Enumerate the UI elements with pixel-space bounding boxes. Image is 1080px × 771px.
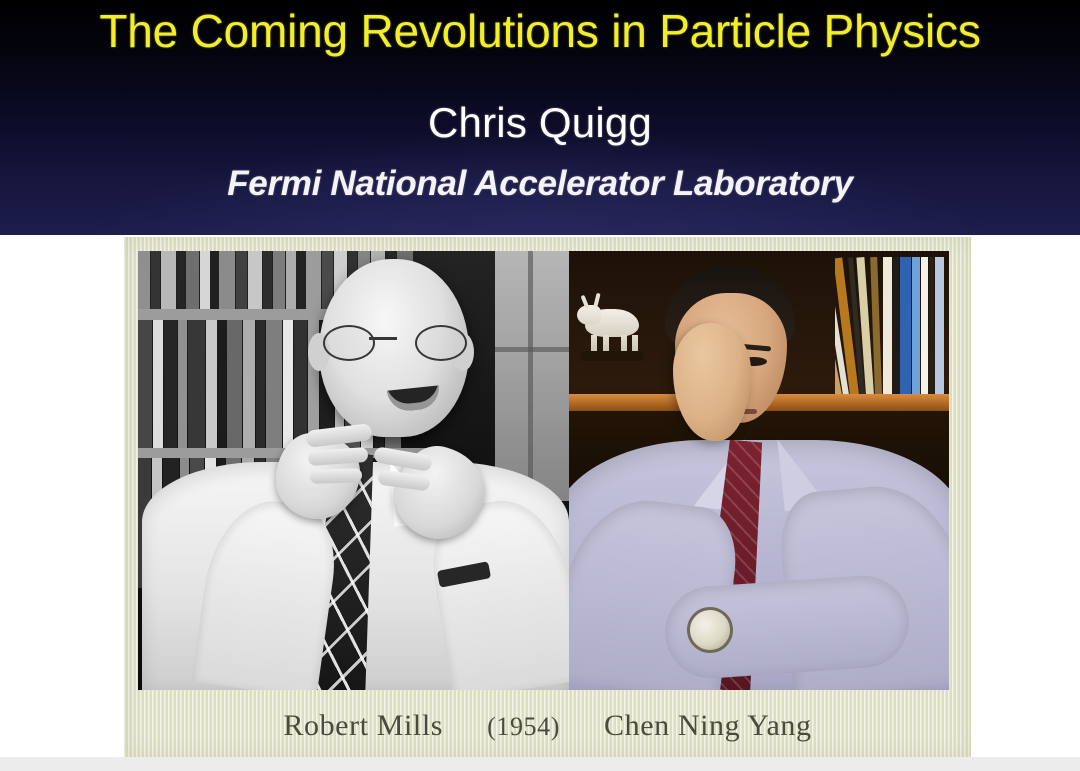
- photo-pair: [138, 251, 949, 690]
- mills-glasses-bridge: [369, 337, 397, 340]
- caption-right-name: Chen Ning Yang: [604, 709, 812, 743]
- robert-mills-photo: [138, 251, 569, 690]
- yang-bookshelf-books: [835, 257, 945, 395]
- bottom-strip: [0, 757, 1080, 771]
- author-name: Chris Quigg: [0, 96, 1080, 150]
- mills-glasses-lens-right: [415, 325, 467, 361]
- mills-window-bar-v: [528, 251, 533, 501]
- chen-ning-yang-photo: [569, 251, 949, 690]
- mills-glasses-lens-left: [323, 325, 375, 361]
- presentation-slide: The Coming Revolutions in Particle Physi…: [0, 0, 1080, 771]
- author-affiliation: Fermi National Accelerator Laboratory: [0, 161, 1080, 207]
- caption-year: (1954): [487, 712, 560, 742]
- page-title: The Coming Revolutions in Particle Physi…: [0, 2, 1080, 60]
- mills-glasses: [319, 325, 471, 359]
- yang-ox-figurine: [577, 293, 649, 355]
- caption-left-name: Robert Mills: [283, 709, 443, 743]
- photo-paper-panel: Robert Mills(1954)Chen Ning Yang: [124, 237, 971, 758]
- mills-finger-left-3: [310, 468, 362, 484]
- title-banner: The Coming Revolutions in Particle Physi…: [0, 0, 1080, 235]
- photo-caption: Robert Mills(1954)Chen Ning Yang: [124, 709, 971, 743]
